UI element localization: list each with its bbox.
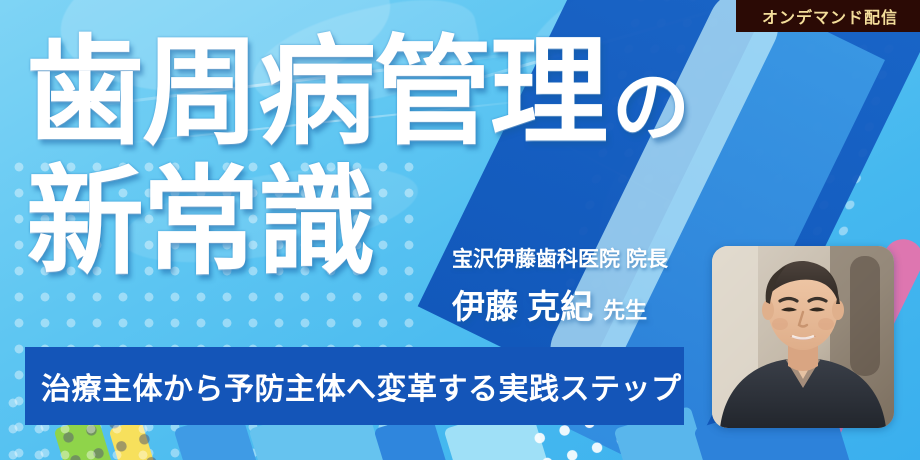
- headline-line-2-main: 新常識: [26, 164, 374, 282]
- speaker-clinic-title: 宝沢伊藤歯科医院 院長: [452, 243, 668, 273]
- headline-line-1-main: 歯周病管理: [26, 34, 606, 152]
- subtitle-banner-text: 治療主体から予防主体へ変革する実践ステップ: [25, 364, 682, 408]
- on-demand-badge-label: オンデマンド配信: [762, 4, 898, 28]
- speaker-name-row: 伊藤 克紀 先生: [452, 280, 668, 328]
- headline-line-1: 歯周病管理 の: [26, 34, 688, 152]
- band-stripe-yellow: [109, 419, 238, 460]
- subtitle-banner: 治療主体から予防主体へ変革する実践ステップ: [25, 347, 684, 425]
- promo-banner: オンデマンド配信 歯周病管理 の 新常識 宝沢伊藤歯科医院 院長 伊藤 克紀 先…: [0, 0, 920, 460]
- speaker-block: 宝沢伊藤歯科医院 院長 伊藤 克紀 先生: [452, 243, 668, 328]
- speaker-honorific: 先生: [603, 293, 647, 325]
- headline-line-1-particle: の: [606, 68, 688, 152]
- on-demand-badge: オンデマンド配信: [736, 0, 920, 32]
- speaker-portrait-photo: [712, 246, 894, 428]
- portrait-illustration: [712, 246, 894, 428]
- speaker-name: 伊藤 克紀: [452, 280, 593, 328]
